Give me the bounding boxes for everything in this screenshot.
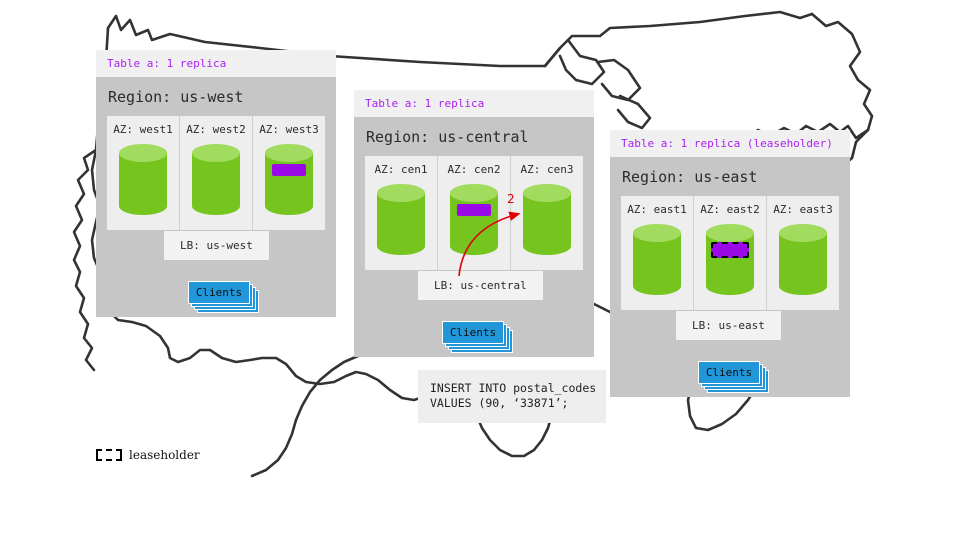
cylinder-body-icon <box>779 233 827 295</box>
cylinder-body-icon <box>377 193 425 255</box>
load-balancer-us-central[interactable]: LB: us-central <box>418 271 543 300</box>
cylinder-top-icon <box>265 144 313 162</box>
dashed-rectangle-icon <box>96 449 122 461</box>
node-cylinder-cen3[interactable] <box>523 184 571 260</box>
range-replica-marker-cen2 <box>457 204 491 216</box>
region-title-us-west: Region: us-west <box>96 77 336 116</box>
az-label-west2: AZ: west2 <box>186 123 246 136</box>
az-cell-cen1[interactable]: AZ: cen1 <box>365 156 438 270</box>
node-cylinder-east2[interactable] <box>706 224 754 300</box>
cylinder-top-icon <box>119 144 167 162</box>
region-panel-us-east: Table a: 1 replica (leaseholder) Region:… <box>610 130 850 397</box>
cylinder-body-icon <box>119 153 167 215</box>
az-cell-west2[interactable]: AZ: west2 <box>180 116 253 230</box>
az-cell-east1[interactable]: AZ: east1 <box>621 196 694 310</box>
az-row-us-west: AZ: west1 AZ: west2 AZ: west3 <box>107 116 325 230</box>
sql-statement-box: INSERT INTO postal_codes VALUES (90, ‘33… <box>418 370 606 423</box>
cylinder-top-icon <box>450 184 498 202</box>
az-row-us-east: AZ: east1 AZ: east2 AZ: east3 <box>621 196 839 310</box>
node-cylinder-west3[interactable] <box>265 144 313 220</box>
clients-button-us-west[interactable]: Clients <box>188 281 250 304</box>
az-cell-west1[interactable]: AZ: west1 <box>107 116 180 230</box>
cylinder-top-icon <box>523 184 571 202</box>
az-label-west1: AZ: west1 <box>113 123 173 136</box>
diagram-canvas: Table a: 1 replica Region: us-west AZ: w… <box>0 0 960 540</box>
node-cylinder-cen2[interactable] <box>450 184 498 260</box>
az-cell-west3[interactable]: AZ: west3 <box>253 116 325 230</box>
region-title-us-east: Region: us-east <box>610 157 850 196</box>
az-cell-east3[interactable]: AZ: east3 <box>767 196 839 310</box>
region-panel-us-central: Table a: 1 replica Region: us-central AZ… <box>354 90 594 357</box>
cylinder-body-icon <box>633 233 681 295</box>
cylinder-top-icon <box>192 144 240 162</box>
clients-button-us-east[interactable]: Clients <box>698 361 760 384</box>
table-header-us-east: Table a: 1 replica (leaseholder) <box>610 130 850 157</box>
clients-button-us-central[interactable]: Clients <box>442 321 504 344</box>
az-label-cen2: AZ: cen2 <box>448 163 501 176</box>
clients-stack-us-central[interactable]: Clients <box>442 321 504 344</box>
load-balancer-us-east[interactable]: LB: us-east <box>676 311 781 340</box>
az-cell-cen3[interactable]: AZ: cen3 <box>511 156 583 270</box>
cylinder-top-icon <box>779 224 827 242</box>
az-label-east1: AZ: east1 <box>627 203 687 216</box>
region-title-us-central: Region: us-central <box>354 117 594 156</box>
cylinder-body-icon <box>450 193 498 255</box>
az-row-us-central: AZ: cen1 AZ: cen2 AZ: cen3 <box>365 156 583 270</box>
node-cylinder-cen1[interactable] <box>377 184 425 260</box>
leaseholder-range-marker-east2 <box>711 242 749 258</box>
legend: leaseholder <box>96 448 200 462</box>
region-panel-us-west: Table a: 1 replica Region: us-west AZ: w… <box>96 50 336 317</box>
table-header-us-west: Table a: 1 replica <box>96 50 336 77</box>
clients-stack-us-east[interactable]: Clients <box>698 361 760 384</box>
az-label-west3: AZ: west3 <box>259 123 319 136</box>
node-cylinder-west1[interactable] <box>119 144 167 220</box>
load-balancer-us-west[interactable]: LB: us-west <box>164 231 269 260</box>
az-label-east2: AZ: east2 <box>700 203 760 216</box>
table-header-us-central: Table a: 1 replica <box>354 90 594 117</box>
arrow-step-label-2: 2 <box>507 192 515 206</box>
cylinder-top-icon <box>377 184 425 202</box>
cylinder-body-icon <box>265 153 313 215</box>
clients-stack-us-west[interactable]: Clients <box>188 281 250 304</box>
cylinder-body-icon <box>523 193 571 255</box>
node-cylinder-west2[interactable] <box>192 144 240 220</box>
node-cylinder-east1[interactable] <box>633 224 681 300</box>
legend-label: leaseholder <box>129 448 200 462</box>
node-cylinder-east3[interactable] <box>779 224 827 300</box>
cylinder-top-icon <box>706 224 754 242</box>
az-cell-cen2[interactable]: AZ: cen2 <box>438 156 511 270</box>
az-cell-east2[interactable]: AZ: east2 <box>694 196 767 310</box>
az-label-cen1: AZ: cen1 <box>375 163 428 176</box>
az-label-east3: AZ: east3 <box>773 203 833 216</box>
cylinder-top-icon <box>633 224 681 242</box>
az-label-cen3: AZ: cen3 <box>521 163 574 176</box>
cylinder-body-icon <box>192 153 240 215</box>
range-replica-marker-west3 <box>272 164 306 176</box>
